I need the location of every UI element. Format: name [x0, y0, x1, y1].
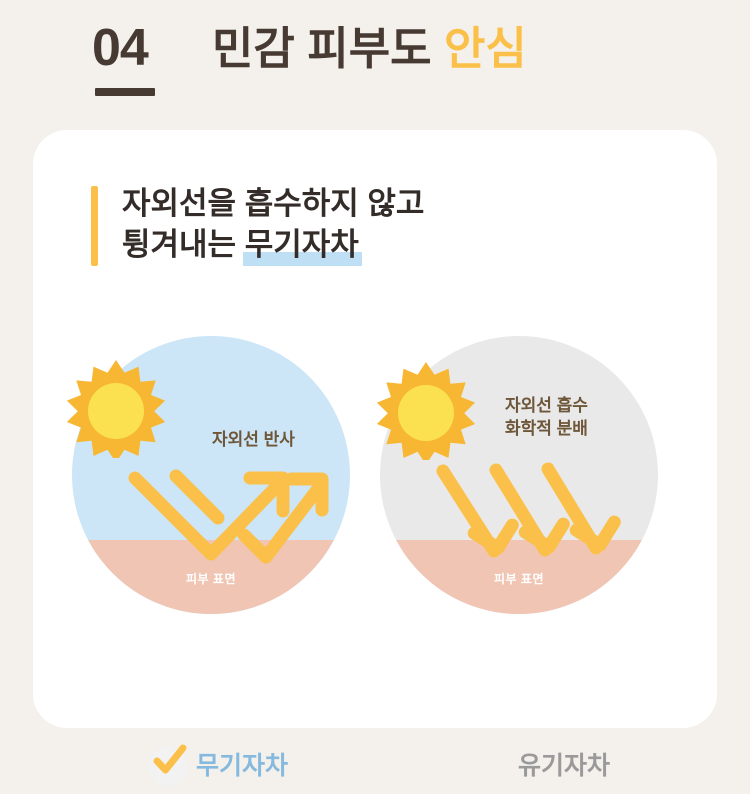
- section-number: 04: [92, 22, 148, 74]
- footer-label-chemical-text: 유기자차: [518, 754, 610, 779]
- footer-label-chemical: 유기자차: [518, 738, 610, 794]
- section-number-underline: [95, 88, 155, 96]
- subtitle-line-1: 자외선을 흡수하지 않고: [122, 184, 424, 225]
- check-icon: [150, 742, 188, 780]
- panel-caption-line-1: 자외선 반사: [212, 428, 295, 451]
- panel-chemical-sunscreen: 피부 표면 자외선 흡수 화학적 분배: [380, 336, 658, 614]
- subtitle-highlight: 무기자차: [245, 225, 359, 266]
- subtitle-accent-bar: [91, 186, 98, 266]
- page-title: 민감 피부도 안심: [212, 24, 527, 74]
- footer-label-mineral: 무기자차: [148, 738, 288, 794]
- subtitle-line-2: 튕겨내는 무기자차: [122, 225, 424, 266]
- page-title-accent: 안심: [444, 23, 527, 74]
- page-title-main: 민감 피부도: [212, 23, 432, 74]
- panel-caption-mineral: 자외선 반사: [212, 428, 295, 451]
- panel-caption-chemical: 자외선 흡수 화학적 분배: [505, 394, 588, 441]
- subtitle-highlight-text: 무기자차: [245, 227, 359, 262]
- subtitle-text: 자외선을 흡수하지 않고 튕겨내는 무기자차: [122, 184, 424, 266]
- sun-icon: [376, 360, 476, 460]
- subtitle-block: 자외선을 흡수하지 않고 튕겨내는 무기자차: [91, 184, 424, 266]
- content-card: 자외선을 흡수하지 않고 튕겨내는 무기자차 피부 표면 자외: [33, 130, 717, 728]
- panel-caption-line-1: 자외선 흡수: [505, 394, 588, 417]
- page-header: 04 민감 피부도 안심: [0, 0, 750, 130]
- subtitle-line-2-prefix: 튕겨내는: [122, 227, 245, 262]
- check-badge: [148, 746, 188, 786]
- panel-caption-line-2: 화학적 분배: [505, 417, 588, 440]
- footer-label-mineral-text: 무기자차: [196, 754, 288, 779]
- sun-icon: [66, 358, 166, 458]
- panel-mineral-sunscreen: 피부 표면 자외선 반사: [72, 336, 350, 614]
